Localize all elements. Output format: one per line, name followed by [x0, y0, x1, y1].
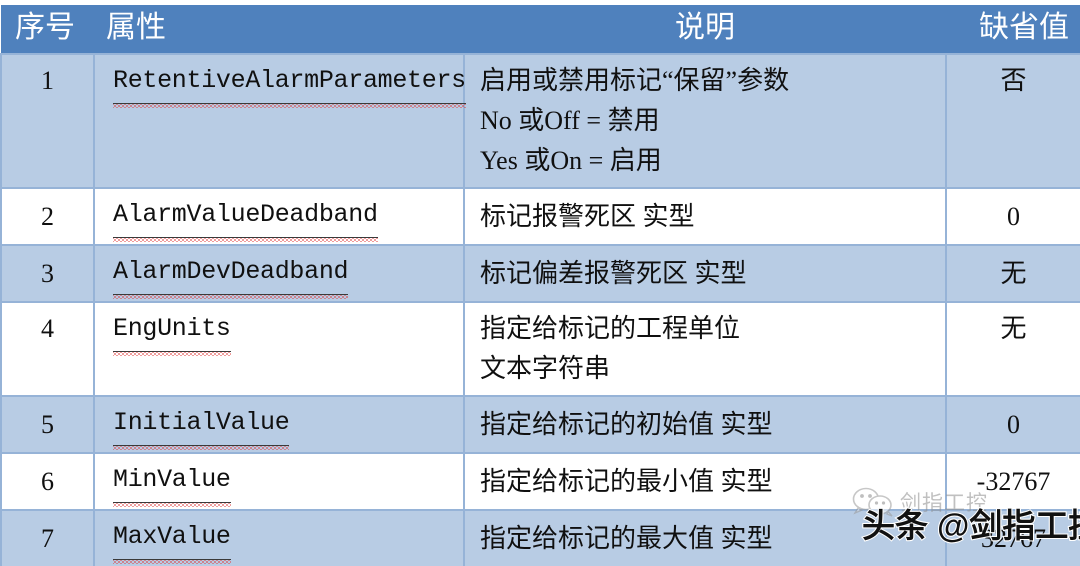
- cell-description: 标记报警死区 实型: [464, 188, 946, 245]
- cell-index: 3: [1, 245, 94, 302]
- tag-properties-table: 序号 属性 说明 缺省值 1RetentiveAlarmParameters启用…: [0, 5, 1080, 566]
- description-line: Yes 或On = 启用: [480, 141, 945, 181]
- description-line: 指定给标记的初始值 实型: [480, 405, 945, 445]
- table-row: 4EngUnits指定给标记的工程单位文本字符串无: [1, 302, 1080, 396]
- description-line: 文本字符串: [480, 349, 945, 389]
- cell-index: 6: [1, 453, 94, 510]
- cell-index: 7: [1, 510, 94, 566]
- cell-property-name: InitialValue: [94, 396, 464, 453]
- property-name-text: RetentiveAlarmParameters: [113, 61, 466, 104]
- cell-description: 启用或禁用标记“保留”参数No 或Off = 禁用Yes 或On = 启用: [464, 54, 946, 188]
- cell-default-value: 32767: [946, 510, 1080, 566]
- column-header-description: 说明: [464, 5, 946, 54]
- table-header: 序号 属性 说明 缺省值: [1, 5, 1080, 54]
- table-row: 5InitialValue指定给标记的初始值 实型0: [1, 396, 1080, 453]
- description-line: 启用或禁用标记“保留”参数: [480, 61, 945, 101]
- table-row: 6MinValue指定给标记的最小值 实型-32767: [1, 453, 1080, 510]
- column-header-property: 属性: [94, 5, 464, 54]
- description-line: 指定给标记的最小值 实型: [480, 462, 945, 502]
- property-name-text: AlarmValueDeadband: [113, 195, 378, 238]
- cell-index: 5: [1, 396, 94, 453]
- description-line: 标记偏差报警死区 实型: [480, 254, 945, 294]
- table-row: 1RetentiveAlarmParameters启用或禁用标记“保留”参数No…: [1, 54, 1080, 188]
- cell-property-name: EngUnits: [94, 302, 464, 396]
- property-name-text: MinValue: [113, 460, 231, 503]
- table-row: 3AlarmDevDeadband标记偏差报警死区 实型无: [1, 245, 1080, 302]
- cell-index: 4: [1, 302, 94, 396]
- cell-index: 1: [1, 54, 94, 188]
- cell-description: 标记偏差报警死区 实型: [464, 245, 946, 302]
- property-name-text: MaxValue: [113, 517, 231, 560]
- cell-property-name: MinValue: [94, 453, 464, 510]
- cell-property-name: RetentiveAlarmParameters: [94, 54, 464, 188]
- document-table-container: 序号 属性 说明 缺省值 1RetentiveAlarmParameters启用…: [0, 0, 1080, 566]
- cell-description: 指定给标记的最大值 实型: [464, 510, 946, 566]
- description-line: 标记报警死区 实型: [480, 197, 945, 237]
- cell-description: 指定给标记的工程单位文本字符串: [464, 302, 946, 396]
- description-line: 指定给标记的最大值 实型: [480, 519, 945, 559]
- cell-default-value: 0: [946, 188, 1080, 245]
- cell-default-value: -32767: [946, 453, 1080, 510]
- cell-property-name: AlarmDevDeadband: [94, 245, 464, 302]
- cell-default-value: 无: [946, 302, 1080, 396]
- cell-property-name: AlarmValueDeadband: [94, 188, 464, 245]
- table-row: 2AlarmValueDeadband标记报警死区 实型0: [1, 188, 1080, 245]
- description-line: 指定给标记的工程单位: [480, 309, 945, 349]
- table-row: 7MaxValue指定给标记的最大值 实型32767: [1, 510, 1080, 566]
- property-name-text: InitialValue: [113, 403, 289, 446]
- cell-default-value: 否: [946, 54, 1080, 188]
- property-name-text: EngUnits: [113, 309, 231, 352]
- property-name-text: AlarmDevDeadband: [113, 252, 348, 295]
- cell-index: 2: [1, 188, 94, 245]
- column-header-default: 缺省值: [946, 5, 1080, 54]
- cell-property-name: MaxValue: [94, 510, 464, 566]
- table-body: 1RetentiveAlarmParameters启用或禁用标记“保留”参数No…: [1, 54, 1080, 566]
- cell-description: 指定给标记的初始值 实型: [464, 396, 946, 453]
- cell-default-value: 0: [946, 396, 1080, 453]
- table-header-row: 序号 属性 说明 缺省值: [1, 5, 1080, 54]
- cell-default-value: 无: [946, 245, 1080, 302]
- description-line: No 或Off = 禁用: [480, 101, 945, 141]
- column-header-index: 序号: [1, 5, 94, 54]
- cell-description: 指定给标记的最小值 实型: [464, 453, 946, 510]
